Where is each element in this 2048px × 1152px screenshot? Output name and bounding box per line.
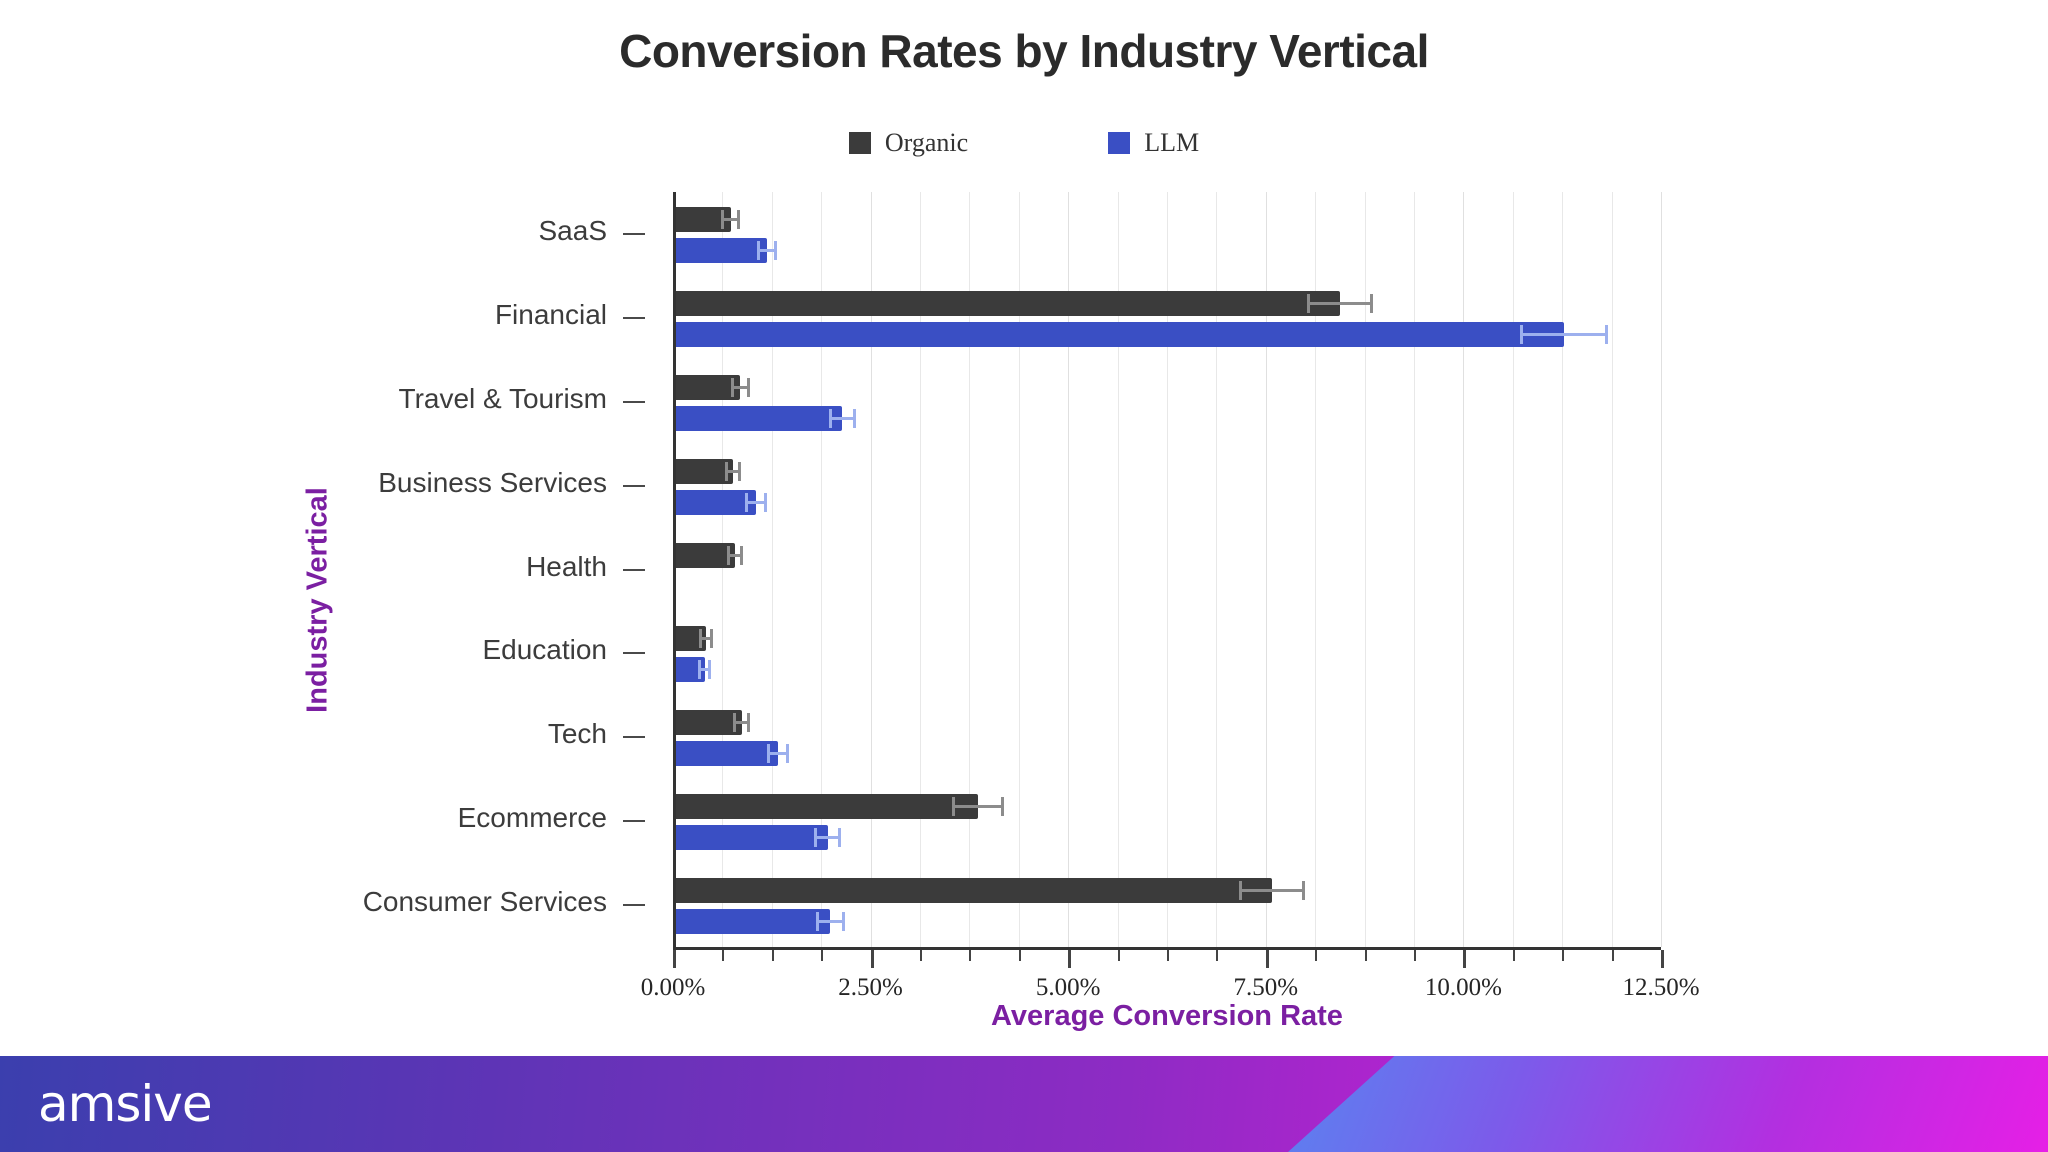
y-axis-line [673, 192, 676, 947]
plot-area: SaaSFinancialTravel & TourismBusiness Se… [0, 0, 2048, 1040]
y-axis-tick-mark [623, 904, 645, 906]
error-cap [842, 912, 845, 931]
error-bar-llm [745, 501, 767, 504]
y-axis-tick-label: Travel & Tourism [399, 383, 608, 415]
y-axis-tick-label: Business Services [378, 467, 607, 499]
error-cap [1520, 325, 1523, 344]
error-cap [725, 462, 728, 481]
x-axis-tick-label: 12.50% [1622, 974, 1699, 1002]
error-cap [745, 493, 748, 512]
gridline [1661, 192, 1662, 947]
error-cap [814, 828, 817, 847]
error-cap [1239, 881, 1242, 900]
error-cap [1307, 294, 1310, 313]
y-axis-tick-mark [623, 485, 645, 487]
y-axis-tick-label: Financial [495, 299, 607, 331]
error-cap [764, 493, 767, 512]
gridline-minor [1513, 192, 1514, 947]
x-axis-tick-mark [1661, 950, 1664, 968]
error-bar-organic [1307, 302, 1373, 305]
error-cap [774, 241, 777, 260]
x-axis-tick-label: 2.50% [838, 974, 903, 1002]
x-axis-tick-mark-minor [1562, 950, 1564, 961]
x-axis-title: Average Conversion Rate [673, 1000, 1661, 1033]
x-axis-tick-mark [871, 950, 874, 968]
y-axis-tick-label: Consumer Services [363, 886, 607, 918]
error-bar-llm [816, 920, 844, 923]
error-cap [816, 912, 819, 931]
error-cap [757, 241, 760, 260]
y-axis-tick-mark [623, 652, 645, 654]
error-cap [1605, 325, 1608, 344]
error-cap [727, 546, 730, 565]
y-axis-tick-mark [623, 317, 645, 319]
x-axis-tick-mark-minor [1513, 950, 1515, 961]
bar-llm[interactable] [673, 490, 756, 515]
bar-llm[interactable] [673, 406, 842, 431]
error-cap [698, 660, 701, 679]
error-cap [767, 744, 770, 763]
bar-organic[interactable] [673, 459, 733, 484]
x-axis-tick-mark-minor [1167, 950, 1169, 961]
error-cap [1001, 797, 1004, 816]
bar-organic[interactable] [673, 543, 735, 568]
x-axis-tick-label: 10.00% [1425, 974, 1502, 1002]
y-axis-tick-label: Ecommerce [458, 802, 607, 834]
bar-llm[interactable] [673, 825, 828, 850]
x-axis-tick-label: 7.50% [1234, 974, 1299, 1002]
error-cap [737, 210, 740, 229]
error-cap [747, 713, 750, 732]
error-cap [710, 629, 713, 648]
gridline-minor [1562, 192, 1563, 947]
error-bar-llm [829, 417, 856, 420]
error-cap [1370, 294, 1373, 313]
y-axis-tick-mark [623, 820, 645, 822]
x-axis-tick-mark-minor [1414, 950, 1416, 961]
x-axis-tick-mark-minor [920, 950, 922, 961]
x-axis-tick-mark-minor [1216, 950, 1218, 961]
error-cap [699, 629, 702, 648]
error-cap [733, 713, 736, 732]
amsive-logo: amsive [38, 1075, 212, 1133]
error-cap [786, 744, 789, 763]
bar-organic[interactable] [673, 710, 742, 735]
y-axis-tick-mark [623, 401, 645, 403]
x-axis-tick-mark-minor [1365, 950, 1367, 961]
y-axis-tick-label: SaaS [539, 215, 608, 247]
y-axis-tick-label: Education [482, 634, 607, 666]
x-axis-tick-mark-minor [969, 950, 971, 961]
plot-canvas [673, 192, 1661, 947]
x-axis-tick-label: 5.00% [1036, 974, 1101, 1002]
error-bar-organic [952, 805, 1004, 808]
y-axis-tick-label: Health [526, 551, 607, 583]
gridline-minor [1414, 192, 1415, 947]
x-axis-tick-label: 0.00% [641, 974, 706, 1002]
bar-llm[interactable] [673, 909, 830, 934]
error-cap [1302, 881, 1305, 900]
x-axis-tick-mark [1463, 950, 1466, 968]
x-axis-tick-mark-minor [722, 950, 724, 961]
bar-organic[interactable] [673, 794, 978, 819]
error-bar-llm [767, 752, 789, 755]
y-axis-tick-mark [623, 569, 645, 571]
error-cap [853, 409, 856, 428]
error-bar-llm [814, 836, 841, 839]
y-axis-tick-label: Tech [548, 718, 607, 750]
error-bar-organic [733, 721, 750, 724]
y-axis-tick-mark [623, 736, 645, 738]
x-axis-tick-mark [1068, 950, 1071, 968]
error-bar-llm [1520, 333, 1609, 336]
bar-llm[interactable] [673, 322, 1564, 347]
y-axis-tick-mark [623, 233, 645, 235]
x-axis-tick-mark-minor [821, 950, 823, 961]
error-cap [838, 828, 841, 847]
error-cap [829, 409, 832, 428]
bar-organic[interactable] [673, 291, 1340, 316]
error-bar-organic [727, 554, 743, 557]
x-axis-tick-mark-minor [1019, 950, 1021, 961]
error-cap [721, 210, 724, 229]
gridline-minor [1612, 192, 1613, 947]
x-axis-tick-mark-minor [1612, 950, 1614, 961]
bar-organic[interactable] [673, 878, 1272, 903]
error-bar-organic [721, 218, 740, 221]
chart-page: Conversion Rates by Industry Vertical Or… [0, 0, 2048, 1152]
error-bar-organic [725, 470, 741, 473]
error-bar-llm [698, 668, 711, 671]
error-cap [708, 660, 711, 679]
error-bar-organic [1239, 889, 1305, 892]
brand-footer: amsive [0, 1056, 2048, 1152]
error-cap [738, 462, 741, 481]
error-cap [740, 546, 743, 565]
error-bar-llm [757, 249, 778, 252]
x-axis-tick-mark [1266, 950, 1269, 968]
gridline-minor [1365, 192, 1366, 947]
error-cap [747, 378, 750, 397]
footer-accent-shape [1288, 1056, 2048, 1152]
x-axis-tick-mark-minor [772, 950, 774, 961]
error-cap [731, 378, 734, 397]
error-cap [952, 797, 955, 816]
x-axis-tick-mark-minor [1118, 950, 1120, 961]
gridline [1463, 192, 1464, 947]
x-axis-tick-mark-minor [1315, 950, 1317, 961]
bar-llm[interactable] [673, 238, 767, 263]
x-axis-tick-mark [673, 950, 676, 968]
bar-llm[interactable] [673, 741, 778, 766]
error-bar-organic [731, 386, 750, 389]
y-axis-title: Industry Vertical [302, 487, 335, 713]
error-bar-organic [699, 637, 713, 640]
